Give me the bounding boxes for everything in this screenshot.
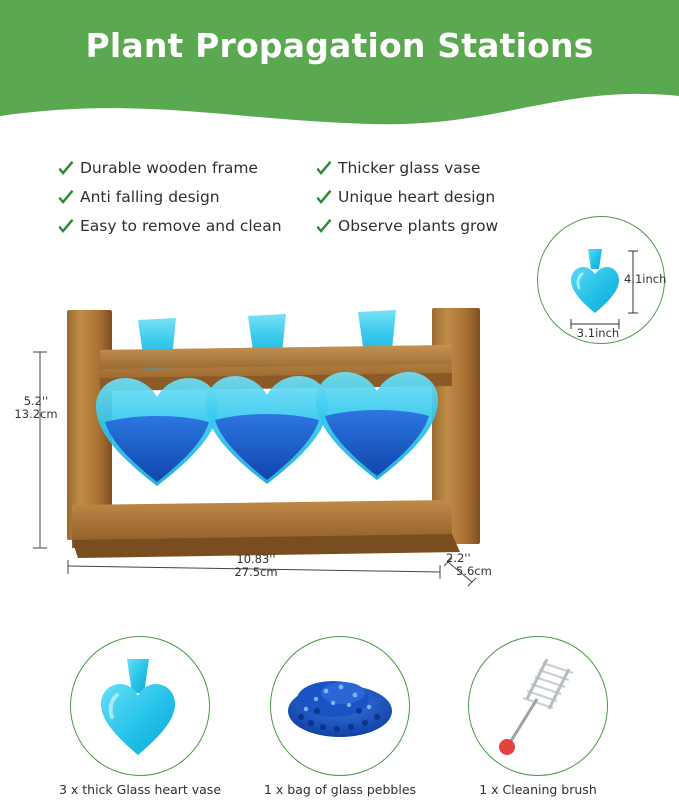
feature-item: Durable wooden frame <box>56 158 314 178</box>
page-title: Plant Propagation Stations <box>0 26 679 65</box>
depth-dimension-label: 2.2'' 5.6cm <box>446 552 526 578</box>
feature-list: Durable wooden frame Thicker glass vase … <box>56 158 556 245</box>
width-dimension-label: 10.83'' 27.5cm <box>176 553 336 579</box>
check-icon <box>314 188 334 208</box>
accessory-caption: 1 x Cleaning brush <box>438 782 638 797</box>
header-banner: Plant Propagation Stations <box>0 0 679 132</box>
inset-height-label: 4.1inch <box>624 273 666 286</box>
accessory-item: 1 x bag of glass pebbles <box>270 636 410 776</box>
check-icon <box>56 217 76 237</box>
check-icon <box>314 159 334 179</box>
feature-label: Unique heart design <box>338 187 495 207</box>
accessory-caption: 3 x thick Glass heart vase <box>40 782 240 797</box>
feature-item: Observe plants grow <box>314 216 554 236</box>
feature-label: Durable wooden frame <box>80 158 258 178</box>
height-dimension-label: 5.2'' 13.2cm <box>6 395 66 421</box>
feature-label: Observe plants grow <box>338 216 498 236</box>
accessories-row: 3 x thick Glass heart vase <box>0 626 679 809</box>
product-infographic-page: Plant Propagation Stations Durable woode… <box>0 0 679 809</box>
feature-item: Easy to remove and clean <box>56 216 314 236</box>
check-icon <box>314 217 334 237</box>
check-icon <box>56 188 76 208</box>
accessory-circle <box>70 636 210 776</box>
feature-item: Anti falling design <box>56 187 314 207</box>
propagation-station-drawing <box>0 290 679 610</box>
check-icon <box>56 159 76 179</box>
cleaning-brush-icon <box>469 637 607 775</box>
glass-heart-vase-icon <box>71 637 209 775</box>
accessory-item: 3 x thick Glass heart vase <box>70 636 210 776</box>
accessory-caption: 1 x bag of glass pebbles <box>240 782 440 797</box>
header-background-shape <box>0 0 679 132</box>
glass-pebbles-icon <box>271 637 409 775</box>
feature-row: Easy to remove and clean Observe plants … <box>56 216 556 236</box>
feature-label: Easy to remove and clean <box>80 216 282 236</box>
accessory-item: 1 x Cleaning brush <box>468 636 608 776</box>
feature-row: Durable wooden frame Thicker glass vase <box>56 158 556 178</box>
feature-item: Unique heart design <box>314 187 554 207</box>
accessory-circle <box>468 636 608 776</box>
product-illustration: 5.2'' 13.2cm 10.83'' 27.5cm 2.2'' 5.6cm <box>0 290 679 610</box>
feature-label: Thicker glass vase <box>338 158 480 178</box>
feature-row: Anti falling design Unique heart design <box>56 187 556 207</box>
feature-item: Thicker glass vase <box>314 158 554 178</box>
accessory-circle <box>270 636 410 776</box>
feature-label: Anti falling design <box>80 187 220 207</box>
